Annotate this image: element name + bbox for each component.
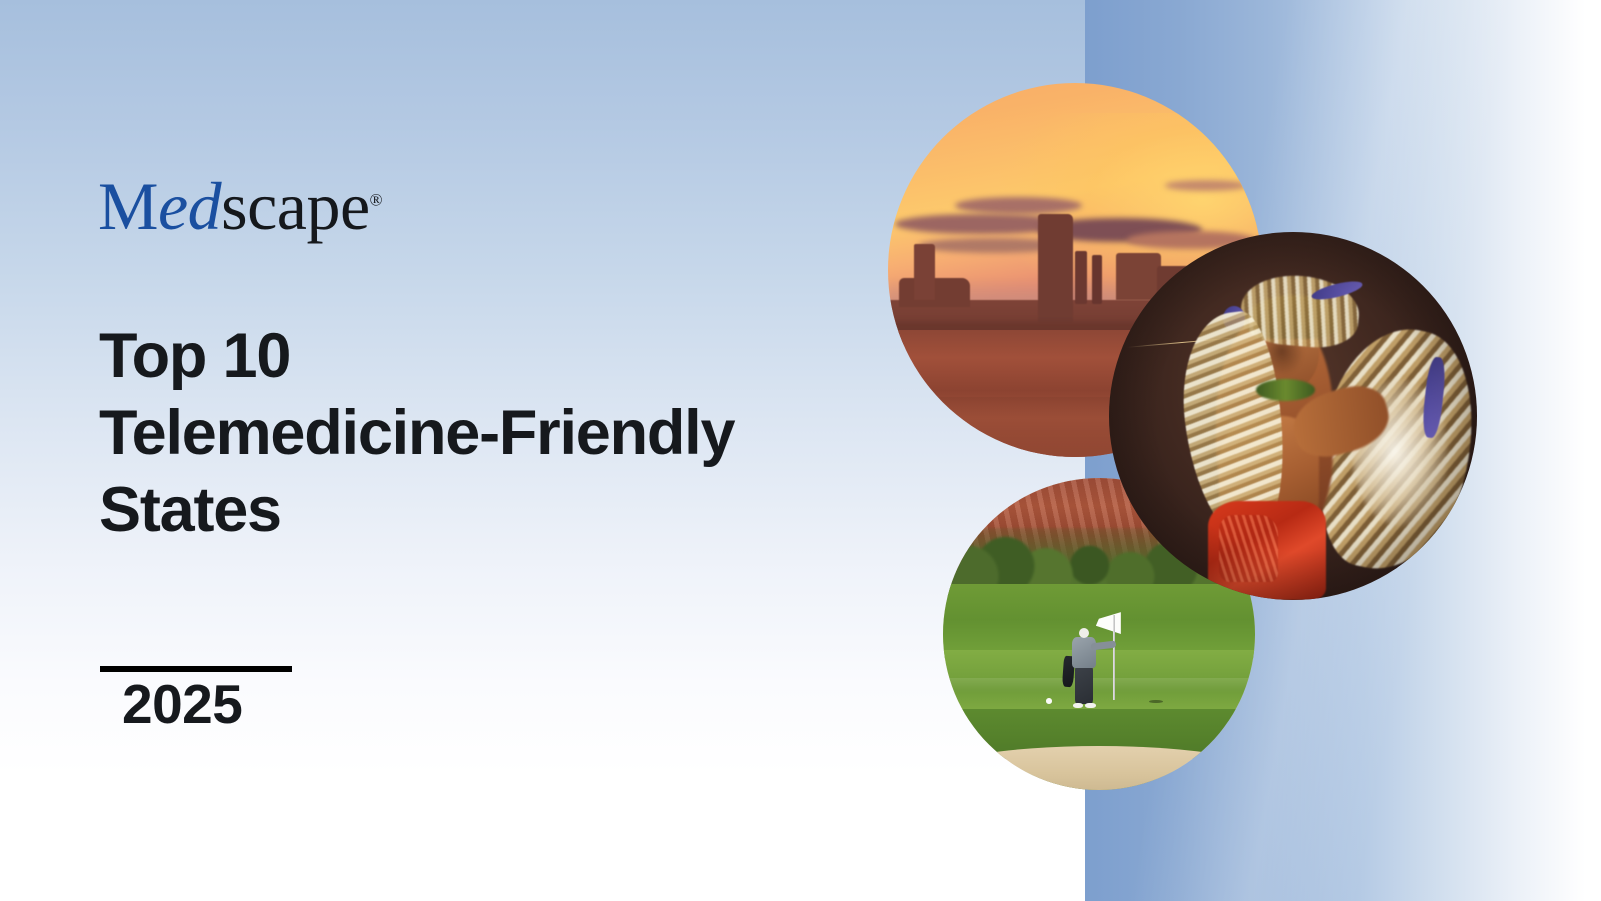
hole-shadow <box>1149 700 1163 703</box>
butte <box>914 244 935 300</box>
vignette <box>1109 232 1477 600</box>
golfer-cap <box>1079 628 1089 638</box>
golfer-torso <box>1072 637 1095 668</box>
butte <box>1092 255 1102 304</box>
logo-letter-m: M <box>98 168 158 244</box>
image-hula-dancer <box>1109 232 1477 600</box>
butte <box>1075 251 1087 303</box>
year-label: 2025 <box>122 672 242 736</box>
registered-trademark-icon: ® <box>370 190 383 209</box>
golf-ball <box>1046 698 1052 704</box>
page-title-line-1: Top 10 <box>99 318 859 395</box>
page-title-line-3: States <box>99 472 859 549</box>
logo-letters-ed: ed <box>158 168 221 244</box>
butte <box>899 278 970 308</box>
flagstick <box>1113 615 1115 699</box>
golfer-legs <box>1075 667 1093 704</box>
golfer-shoe <box>1085 703 1096 709</box>
sand-bunker <box>943 746 1255 790</box>
mitten-butte <box>1038 214 1074 322</box>
page-title: Top 10 Telemedicine-Friendly States <box>99 318 859 549</box>
logo-letters-scape: scape <box>221 168 370 244</box>
slide-canvas: Medscape® Top 10 Telemedicine-Friendly S… <box>0 0 1601 901</box>
cloud <box>1165 180 1247 190</box>
medscape-logo[interactable]: Medscape® <box>98 172 383 240</box>
cloud <box>955 197 1082 214</box>
mow-stripe <box>943 678 1255 694</box>
page-title-line-2: Telemedicine-Friendly <box>99 395 859 472</box>
